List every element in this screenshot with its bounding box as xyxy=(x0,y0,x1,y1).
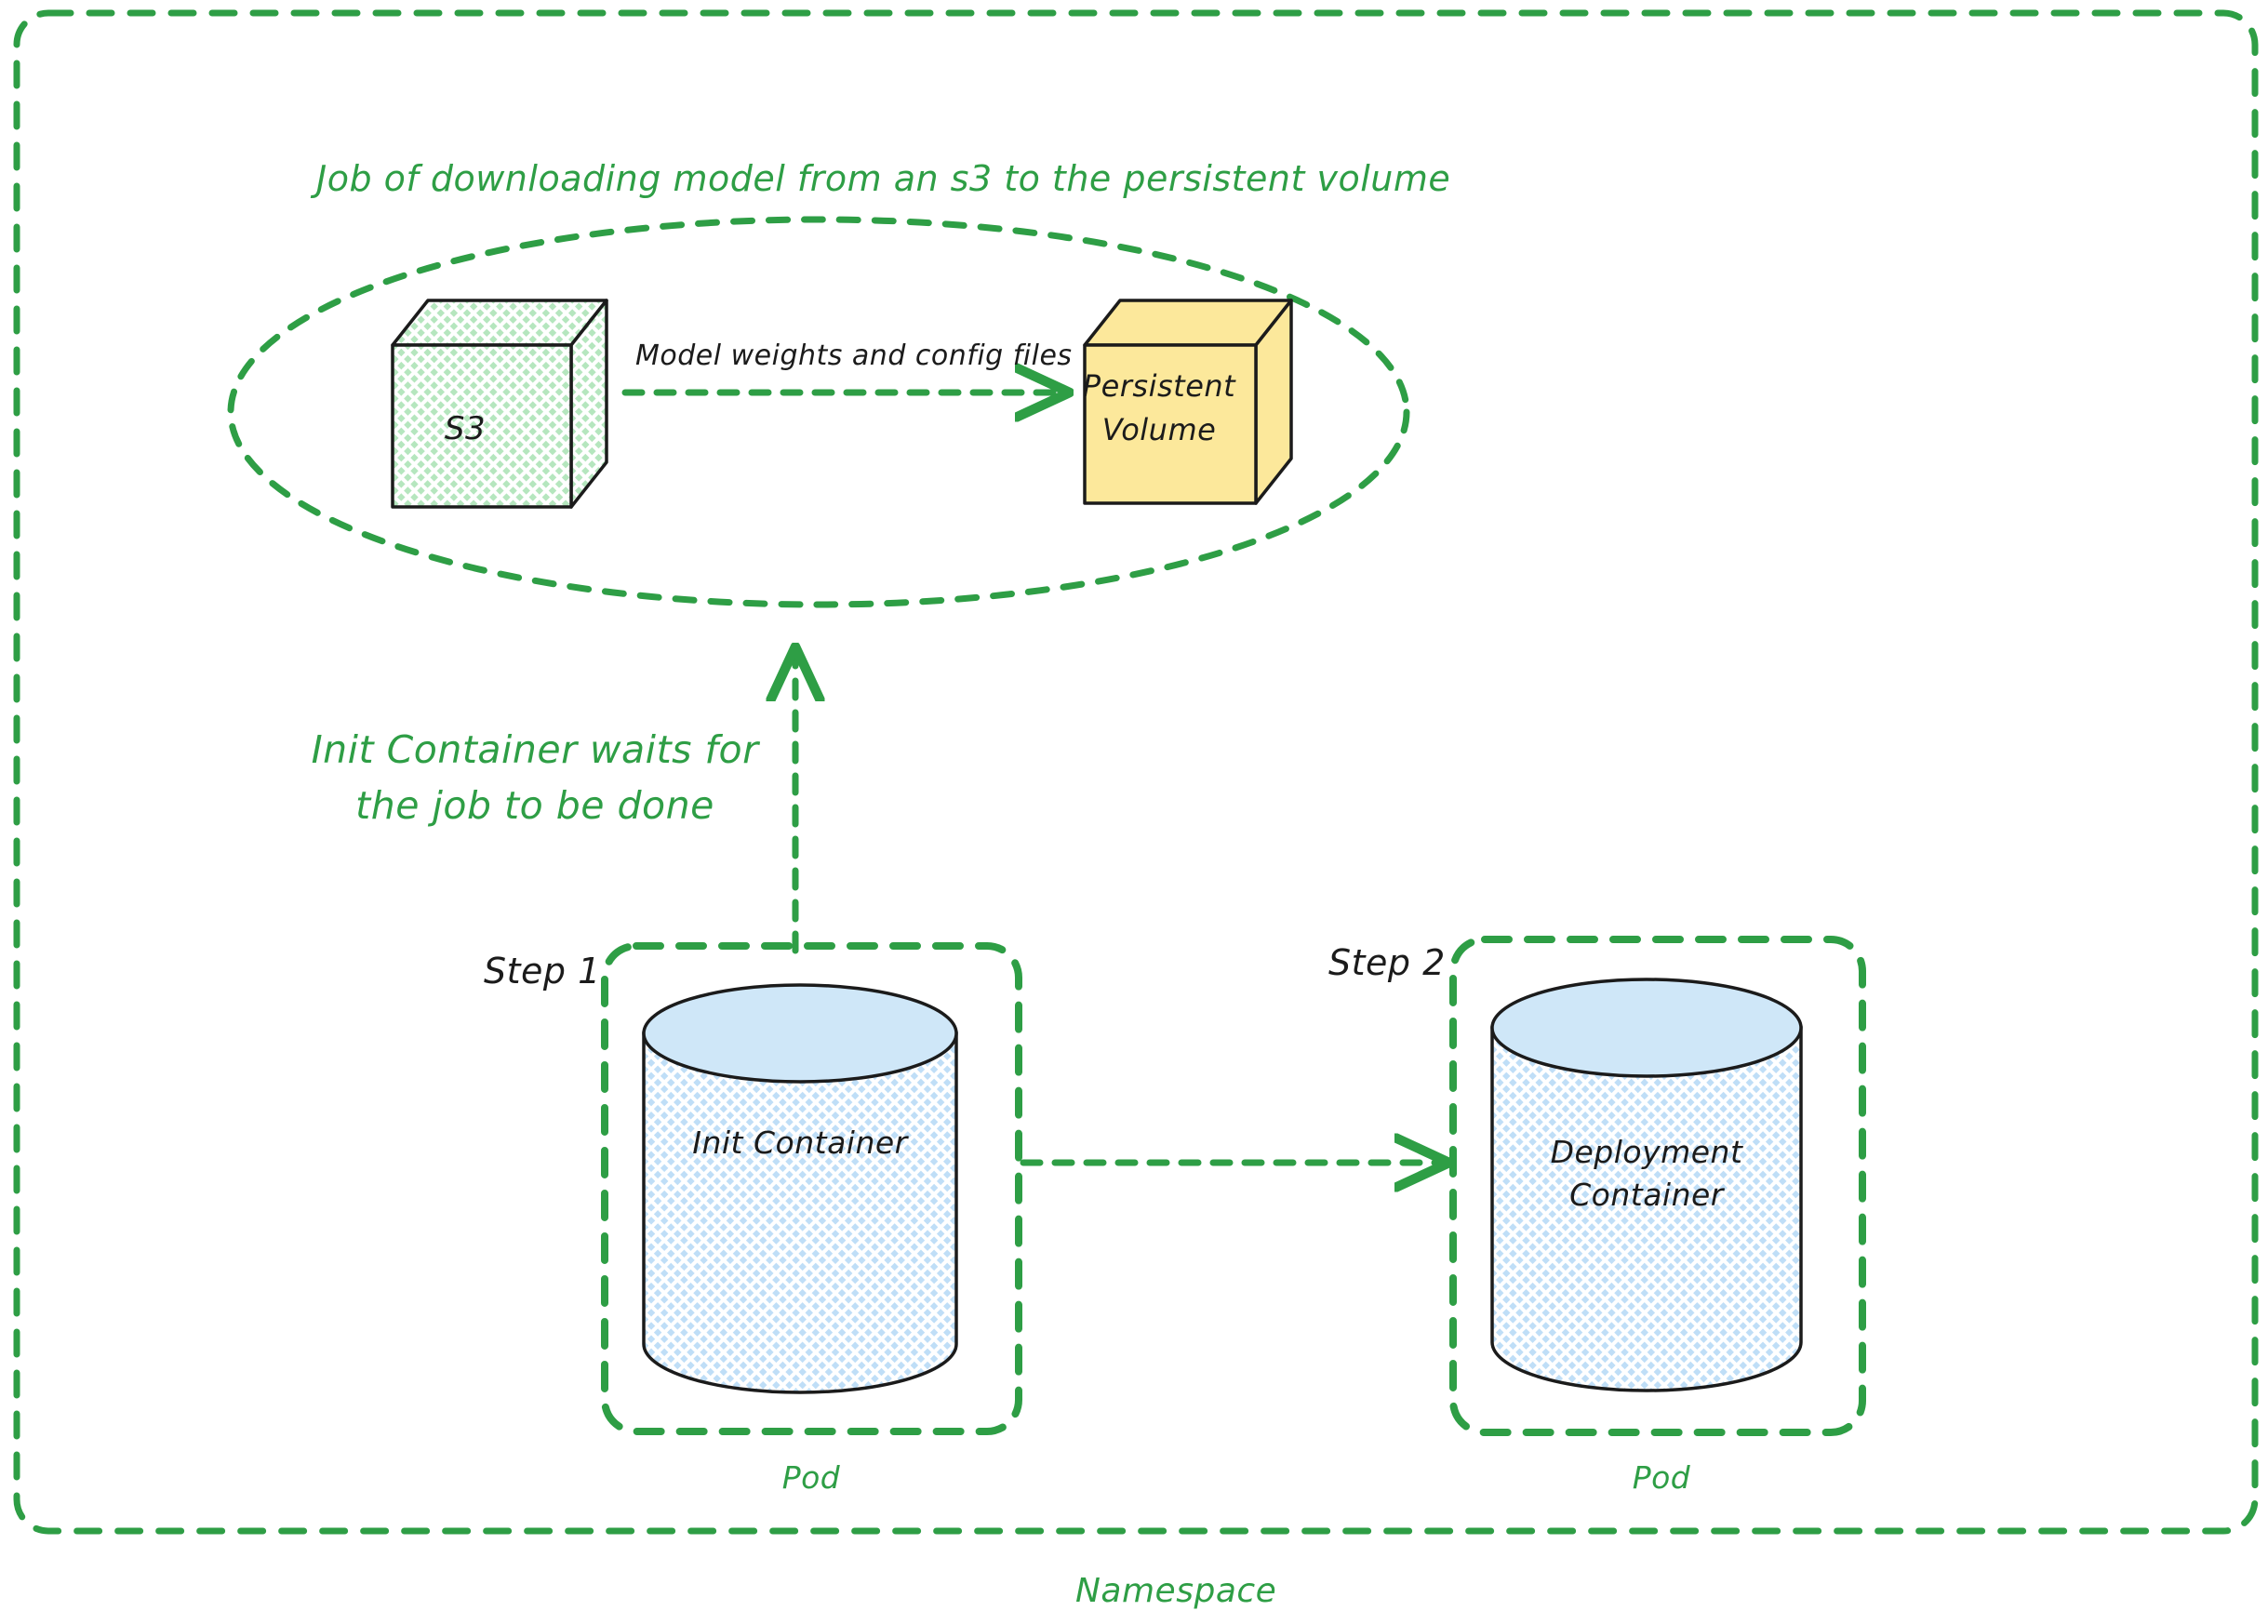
init-container-label: Init Container xyxy=(692,1125,909,1161)
deployment-container-cylinder: Deployment Container xyxy=(1492,979,1801,1391)
namespace-boundary xyxy=(17,13,2255,1531)
persistent-volume-node: Persistent Volume xyxy=(1083,300,1291,503)
pv-label-line2: Volume xyxy=(1102,412,1217,447)
job-ellipse-title: Job of downloading model from an s3 to t… xyxy=(310,158,1450,199)
s3-node: S3 xyxy=(393,300,607,507)
pv-label-line1: Persistent xyxy=(1083,368,1236,404)
diagram-svg: S3 Persistent Volume Init Container xyxy=(0,0,2268,1624)
diagram-canvas: S3 Persistent Volume Init Container xyxy=(0,0,2268,1624)
init-wait-label-line1: Init Container waits for xyxy=(312,727,761,772)
step-label-1: Step 1 xyxy=(484,951,601,992)
pod-label-1: Pod xyxy=(782,1459,841,1496)
deployment-container-label-line2: Container xyxy=(1569,1177,1726,1213)
model-transfer-edge-label: Model weights and config files xyxy=(635,339,1073,372)
init-cylinder-top xyxy=(644,985,956,1082)
init-wait-label-line2: the job to be done xyxy=(355,783,714,828)
namespace-label: Namespace xyxy=(1075,1572,1276,1610)
init-container-cylinder: Init Container xyxy=(644,985,956,1392)
deployment-container-label-line1: Deployment xyxy=(1551,1134,1743,1170)
step-label-2: Step 2 xyxy=(1328,942,1446,983)
s3-label: S3 xyxy=(445,410,486,447)
pod-label-2: Pod xyxy=(1633,1459,1691,1496)
init-cylinder-body xyxy=(644,1033,956,1392)
deploy-cylinder-top xyxy=(1492,979,1801,1076)
